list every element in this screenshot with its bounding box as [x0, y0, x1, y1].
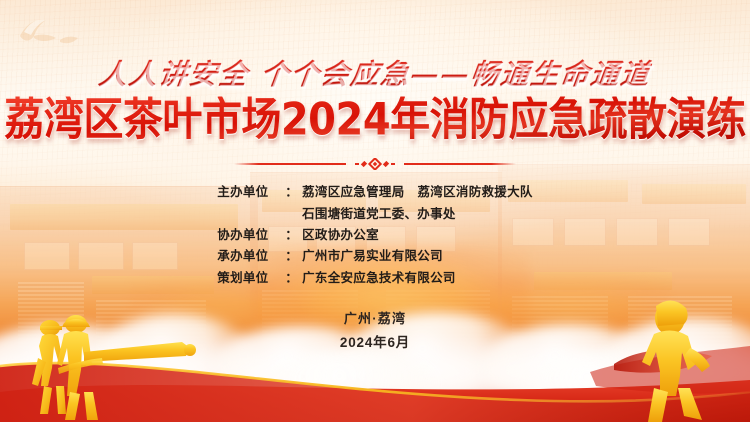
slogan-line: 人人讲安全 个个会应急——畅通生命通道	[97, 53, 654, 93]
organizer-value-secondary: 荔湾区消防救援大队	[418, 185, 533, 199]
organizer-label: 策划单位	[217, 269, 285, 288]
organizer-value: 石围塘街道党工委、办事处	[302, 205, 533, 224]
organizer-row: 主办单位 ： 石围塘街道党工委、办事处	[217, 205, 532, 224]
organizer-label: 承办单位	[217, 247, 285, 266]
decorative-divider	[234, 157, 516, 171]
organizer-value: 广州市广易实业有限公司	[302, 247, 533, 266]
organizer-row: 协办单位 ： 区政协办公室	[217, 226, 532, 245]
organizer-row: 主办单位 ： 荔湾区应急管理局荔湾区消防救援大队	[217, 183, 532, 202]
poster-canvas: 人人讲安全 个个会应急——畅通生命通道 荔湾区茶叶市场2024年消防应急疏散演练	[0, 0, 750, 422]
organizer-row: 承办单位 ： 广州市广易实业有限公司	[217, 247, 532, 266]
organizer-row: 策划单位 ： 广东全安应急技术有限公司	[217, 269, 532, 288]
organizer-label: 协办单位	[217, 226, 285, 245]
organizer-colon: ：	[285, 247, 298, 266]
organizer-block: 主办单位 ： 荔湾区应急管理局荔湾区消防救援大队 主办单位 ： 石围塘街道党工委…	[217, 183, 532, 288]
organizer-value: 区政协办公室	[302, 226, 533, 245]
divider-rule-left	[234, 163, 346, 165]
poster-content: 人人讲安全 个个会应急——畅通生命通道 荔湾区茶叶市场2024年消防应急疏散演练	[0, 0, 750, 422]
organizer-value: 荔湾区应急管理局荔湾区消防救援大队	[302, 183, 533, 202]
organizer-colon: ：	[285, 269, 298, 288]
footer-block: 广州·荔湾 2024年6月	[340, 308, 410, 354]
organizer-colon: ：	[285, 183, 298, 202]
organizer-colon: ：	[285, 226, 298, 245]
event-location: 广州·荔湾	[340, 308, 410, 331]
organizer-label: 主办单位	[217, 183, 285, 202]
event-date: 2024年6月	[340, 331, 410, 355]
organizer-value-primary: 荔湾区应急管理局	[302, 185, 404, 199]
organizer-value: 广东全安应急技术有限公司	[302, 269, 533, 288]
page-title: 荔湾区茶叶市场2024年消防应急疏散演练	[4, 96, 745, 144]
diamond-ornament-icon	[352, 158, 398, 170]
divider-rule-right	[404, 163, 516, 165]
